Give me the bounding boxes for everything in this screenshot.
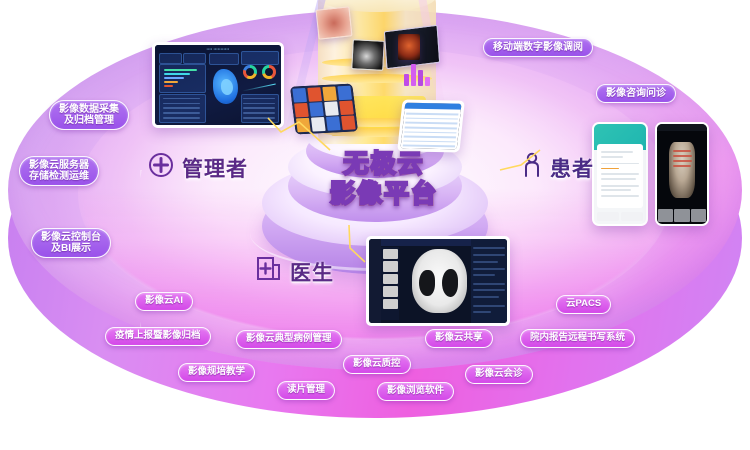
phone-3d-skeleton-screen bbox=[657, 124, 707, 224]
ct-viewer-canvas bbox=[369, 239, 507, 323]
pill-admin-0[interactable]: 影像数据采集 及归档管理 bbox=[49, 100, 129, 130]
medical-record-plus-icon bbox=[256, 255, 282, 288]
pill-doctor-7[interactable]: 影像云共享 bbox=[425, 329, 493, 348]
ct-lung-image bbox=[412, 249, 467, 313]
pill-doctor-5[interactable]: 读片管理 bbox=[277, 381, 335, 400]
pill-doctor-2-text: 影像云典型病例管理 bbox=[246, 334, 332, 345]
pill-doctor-4-text: 影像云质控 bbox=[353, 359, 401, 370]
person-icon bbox=[522, 152, 542, 183]
role-label-doctor[interactable]: 医生 bbox=[256, 255, 334, 288]
pill-doctor-4[interactable]: 影像云质控 bbox=[343, 355, 411, 374]
pill-doctor-6-text: 影像浏览软件 bbox=[387, 386, 444, 397]
pill-doctor-5-text: 读片管理 bbox=[287, 385, 325, 396]
role-label-admin[interactable]: 管理者 bbox=[148, 152, 248, 183]
plus-circle-icon bbox=[148, 152, 174, 183]
patient-report-card bbox=[597, 144, 643, 208]
pill-admin-2[interactable]: 影像云控制台 及BI展示 bbox=[31, 228, 111, 258]
patient-app-screen bbox=[594, 124, 646, 224]
mini-bar-chart bbox=[404, 60, 434, 86]
patient-phone-3d[interactable] bbox=[655, 122, 709, 226]
infographic-canvas: ▪▪▪▪ ▪▪▪▪▪▪▪▪▪▪▪ bbox=[0, 0, 750, 450]
admin-dashboard-screen[interactable]: ▪▪▪▪ ▪▪▪▪▪▪▪▪▪▪▪ bbox=[152, 42, 284, 128]
ct-tool-sidebar[interactable] bbox=[369, 239, 381, 323]
tile-grid bbox=[290, 84, 358, 135]
pill-doctor-3-text: 影像规培教学 bbox=[188, 367, 245, 378]
ct-thumbnail-strip[interactable] bbox=[381, 247, 399, 321]
patient-app-actions[interactable] bbox=[597, 212, 644, 221]
angiography-card bbox=[398, 34, 420, 60]
pill-doctor-9[interactable]: 云PACS bbox=[556, 295, 611, 314]
report-table-panel bbox=[397, 100, 465, 153]
role-label-patient[interactable]: 患者 bbox=[522, 152, 594, 183]
pill-doctor-1-text: 疫情上报暨影像归档 bbox=[115, 331, 201, 342]
doctor-ct-viewer-screen[interactable] bbox=[366, 236, 510, 326]
pill-admin-2-line1: 影像云控制台 bbox=[41, 232, 101, 243]
pill-admin-1-line2: 存储检测运维 bbox=[29, 171, 89, 182]
pill-doctor-10-text: 院内报告远程书写系统 bbox=[530, 333, 625, 344]
pill-doctor-0[interactable]: 影像云AI bbox=[135, 292, 193, 311]
role-label-admin-text: 管理者 bbox=[182, 153, 248, 183]
pill-doctor-2[interactable]: 影像云典型病例管理 bbox=[236, 330, 342, 349]
pill-doctor-0-text: 影像云AI bbox=[145, 296, 183, 307]
tile-menu-panel bbox=[290, 84, 358, 135]
phone-3d-toolbar[interactable] bbox=[657, 124, 707, 131]
endoscopy-image-card bbox=[316, 6, 353, 39]
page-title-line2: 影像平台 bbox=[330, 180, 438, 209]
pill-doctor-8[interactable]: 影像云会诊 bbox=[465, 365, 533, 384]
pill-admin-0-line2: 及归档管理 bbox=[64, 115, 114, 126]
pill-doctor-3[interactable]: 影像规培教学 bbox=[178, 363, 255, 382]
pill-doctor-7-text: 影像云共享 bbox=[435, 333, 483, 344]
pill-patient-0-text: 移动端数字影像调阅 bbox=[493, 42, 583, 53]
pill-doctor-9-text: 云PACS bbox=[566, 299, 601, 310]
pill-doctor-10[interactable]: 院内报告远程书写系统 bbox=[520, 329, 635, 348]
page-title-line1: 无极云 bbox=[330, 150, 438, 179]
pill-patient-0[interactable]: 移动端数字影像调阅 bbox=[483, 38, 593, 57]
table-header-bar bbox=[405, 103, 462, 110]
pill-admin-1-line1: 影像云服务器 bbox=[29, 160, 89, 171]
pill-doctor-8-text: 影像云会诊 bbox=[475, 369, 523, 380]
role-label-patient-text: 患者 bbox=[550, 153, 594, 183]
patient-phone-app[interactable] bbox=[592, 122, 648, 226]
pill-admin-0-line1: 影像数据采集 bbox=[59, 104, 119, 115]
pill-admin-1[interactable]: 影像云服务器 存储检测运维 bbox=[19, 156, 99, 186]
page-title: 无极云 影像平台 bbox=[330, 150, 438, 209]
pill-patient-1[interactable]: 影像咨询问诊 bbox=[596, 84, 676, 103]
pill-doctor-1[interactable]: 疫情上报暨影像归档 bbox=[105, 327, 211, 346]
phone-3d-slice-strip[interactable] bbox=[658, 209, 706, 222]
pill-admin-2-line2: 及BI展示 bbox=[51, 243, 91, 254]
pill-patient-1-text: 影像咨询问诊 bbox=[606, 88, 666, 99]
ct-info-panel bbox=[471, 239, 507, 323]
dashboard-canvas: ▪▪▪▪ ▪▪▪▪▪▪▪▪▪▪▪ bbox=[155, 45, 281, 125]
pill-doctor-6[interactable]: 影像浏览软件 bbox=[377, 382, 454, 401]
ultrasound-image-card bbox=[351, 39, 385, 71]
role-label-doctor-text: 医生 bbox=[290, 257, 334, 287]
